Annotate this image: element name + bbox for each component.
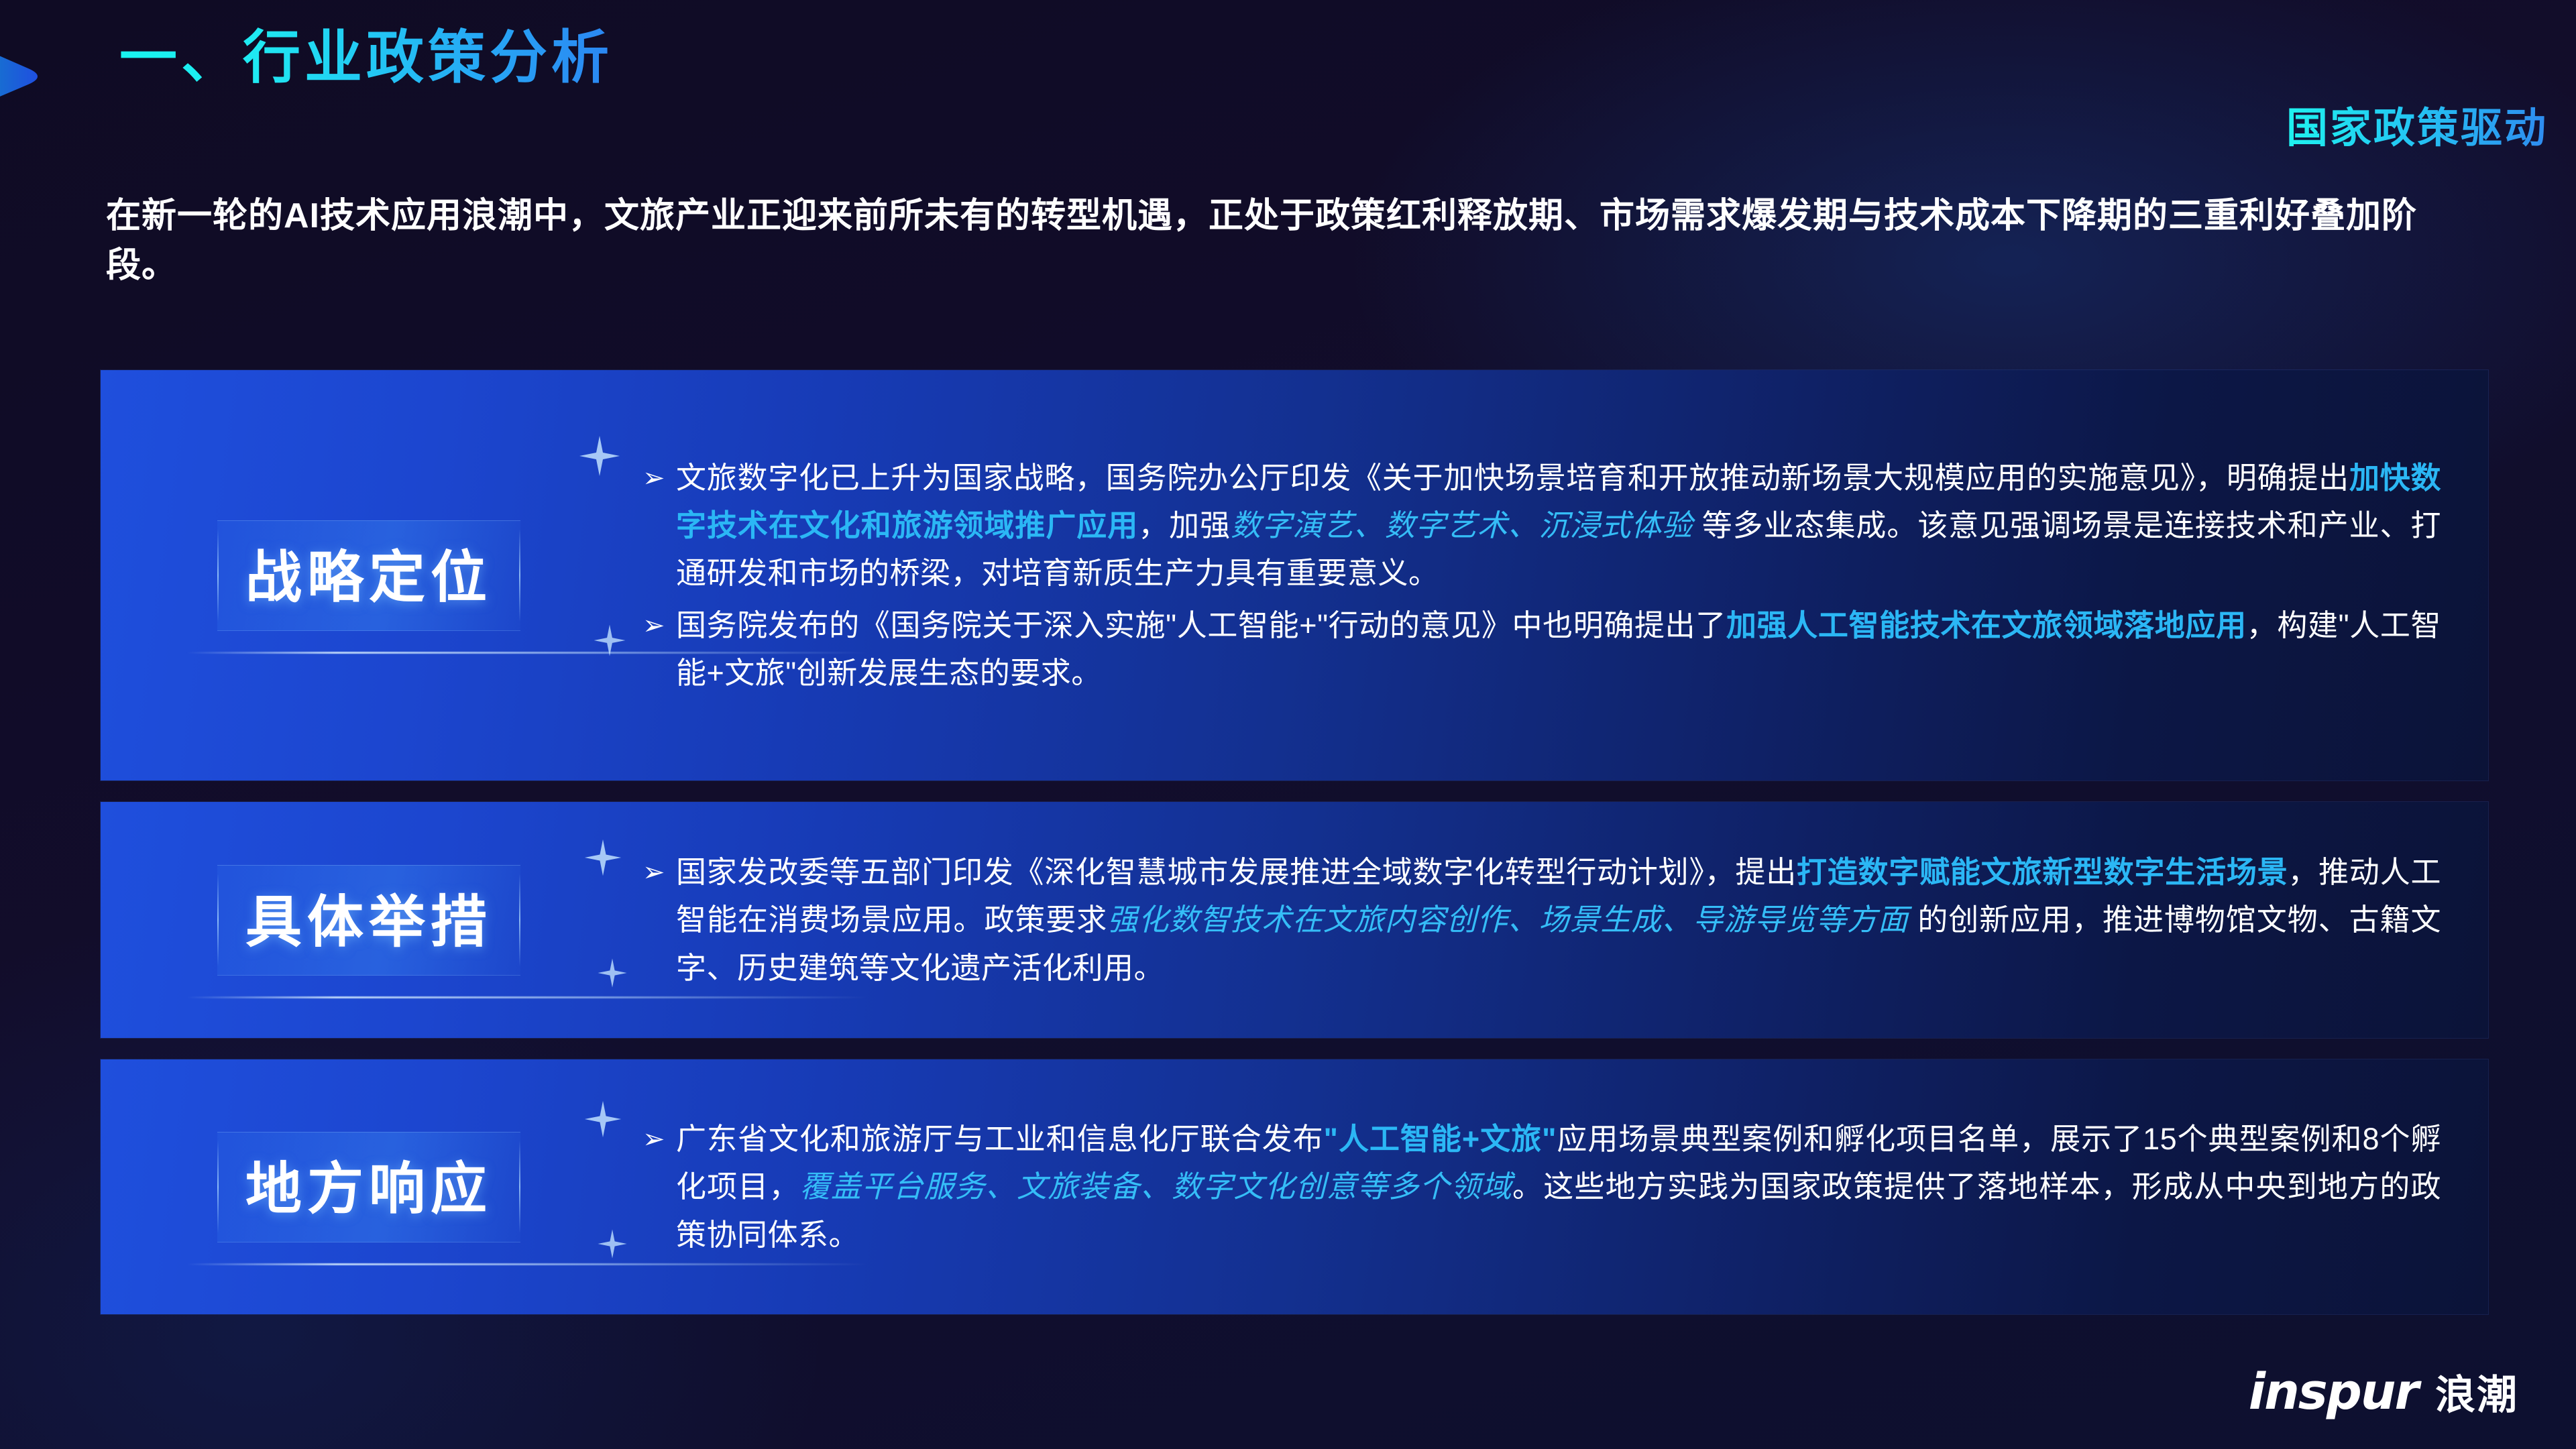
bullet-item: ➢ 国家发改委等五部门印发《深化智慧城市发展推进全域数字化转型行动计划》，提出打… bbox=[637, 848, 2441, 991]
bullet-arrow-icon: ➢ bbox=[642, 605, 665, 646]
card-label-block: 地方响应 bbox=[101, 1059, 637, 1314]
policy-card: 地方响应 ➢ 广东省文化和旅游厅与工业和信息化厅联合发布"人工智能+文旅"应用场… bbox=[101, 1059, 2488, 1314]
section-badge: 国家政策驱动 bbox=[2286, 94, 2548, 154]
text-segment-highlight: 加强人工智能技术在文旅领域落地应用 bbox=[1726, 608, 2247, 642]
bullet-text: 国家发改委等五部门印发《深化智慧城市发展推进全域数字化转型行动计划》，提出打造数… bbox=[676, 855, 2441, 984]
sparkle-icon bbox=[583, 1100, 622, 1139]
card-label-block: 战略定位 bbox=[101, 370, 637, 780]
card-label-frame: 具体举措 bbox=[217, 865, 520, 976]
card-label-text: 具体举措 bbox=[245, 877, 492, 958]
policy-card: 战略定位 ➢ 文旅数字化已上升为国家战略，国务院办公厅印发《关于加快场景培育和开… bbox=[101, 370, 2488, 780]
card-label-text: 战略定位 bbox=[245, 532, 492, 614]
card-body: ➢ 国家发改委等五部门印发《深化智慧城市发展推进全域数字化转型行动计划》，提出打… bbox=[637, 802, 2488, 1038]
text-segment-plain: 国务院发布的《国务院关于深入实施"人工智能+"行动的意见》中也明确提出了 bbox=[676, 608, 1726, 642]
lead-paragraph: 在新一轮的AI技术应用浪潮中，文旅产业正迎来前所未有的转型机遇，正处于政策红利释… bbox=[106, 192, 2480, 291]
text-segment-plain: 文旅数字化已上升为国家战略，国务院办公厅印发《关于加快场景培育和开放推动新场景大… bbox=[676, 461, 2349, 495]
card-body: ➢ 文旅数字化已上升为国家战略，国务院办公厅印发《关于加快场景培育和开放推动新场… bbox=[637, 370, 2488, 780]
card-label-block: 具体举措 bbox=[101, 802, 637, 1038]
text-segment-highlight: 打造数字赋能文旅新型数字生活场景 bbox=[1797, 855, 2288, 889]
bullet-item: ➢ 国务院发布的《国务院关于深入实施"人工智能+"行动的意见》中也明确提出了加强… bbox=[637, 601, 2441, 697]
slide-root: 一、行业政策分析 国家政策驱动 在新一轮的AI技术应用浪潮中，文旅产业正迎来前所… bbox=[0, 0, 2576, 1449]
text-segment-italic: 数字演艺、数字艺术、沉浸式体验 bbox=[1231, 508, 1693, 542]
policy-card: 具体举措 ➢ 国家发改委等五部门印发《深化智慧城市发展推进全域数字化转型行动计划… bbox=[101, 802, 2488, 1038]
card-label-frame: 地方响应 bbox=[217, 1132, 520, 1242]
bullet-arrow-icon: ➢ bbox=[642, 1119, 665, 1159]
brand-logo-en: inspur bbox=[2249, 1363, 2418, 1421]
bullet-text: 文旅数字化已上升为国家战略，国务院办公厅印发《关于加快场景培育和开放推动新场景大… bbox=[676, 461, 2441, 590]
bullet-text: 国务院发布的《国务院关于深入实施"人工智能+"行动的意见》中也明确提出了加强人工… bbox=[676, 608, 2441, 690]
card-label-text: 地方响应 bbox=[245, 1144, 492, 1225]
brand-logo: inspur 浪潮 bbox=[2249, 1363, 2518, 1421]
card-label-underline bbox=[186, 996, 869, 998]
text-segment-italic: 强化数智技术在文旅内容创作、场景生成、导游导览等方面 bbox=[1107, 903, 1909, 937]
sparkle-icon bbox=[597, 1228, 628, 1259]
bullet-text: 广东省文化和旅游厅与工业和信息化厅联合发布"人工智能+文旅"应用场景典型案例和孵… bbox=[676, 1122, 2441, 1251]
brand-logo-cn: 浪潮 bbox=[2435, 1363, 2518, 1421]
text-segment-plain: ，加强 bbox=[1138, 508, 1231, 542]
sparkle-icon bbox=[597, 958, 628, 988]
text-segment-plain: 国家发改委等五部门印发《深化智慧城市发展推进全域数字化转型行动计划》，提出 bbox=[676, 855, 1797, 889]
bullet-item: ➢ 文旅数字化已上升为国家战略，国务院办公厅印发《关于加快场景培育和开放推动新场… bbox=[637, 454, 2441, 597]
card-label-underline bbox=[186, 1263, 869, 1265]
text-segment-plain: 广东省文化和旅游厅与工业和信息化厅联合发布 bbox=[676, 1122, 1324, 1156]
page-title: 一、行业政策分析 bbox=[119, 25, 613, 90]
bullet-arrow-icon: ➢ bbox=[642, 458, 665, 498]
bullet-arrow-icon: ➢ bbox=[642, 852, 665, 892]
chevron-right-decoration bbox=[0, 19, 76, 133]
text-segment-italic: 覆盖平台服务、文旅装备、数字文化创意等多个领域 bbox=[800, 1169, 1512, 1204]
card-body: ➢ 广东省文化和旅游厅与工业和信息化厅联合发布"人工智能+文旅"应用场景典型案例… bbox=[637, 1059, 2488, 1314]
text-segment-highlight: "人工智能+文旅" bbox=[1324, 1122, 1557, 1156]
card-label-frame: 战略定位 bbox=[217, 520, 520, 631]
sparkle-icon bbox=[578, 434, 621, 477]
sparkle-icon bbox=[583, 838, 622, 877]
bullet-item: ➢ 广东省文化和旅游厅与工业和信息化厅联合发布"人工智能+文旅"应用场景典型案例… bbox=[637, 1115, 2441, 1258]
